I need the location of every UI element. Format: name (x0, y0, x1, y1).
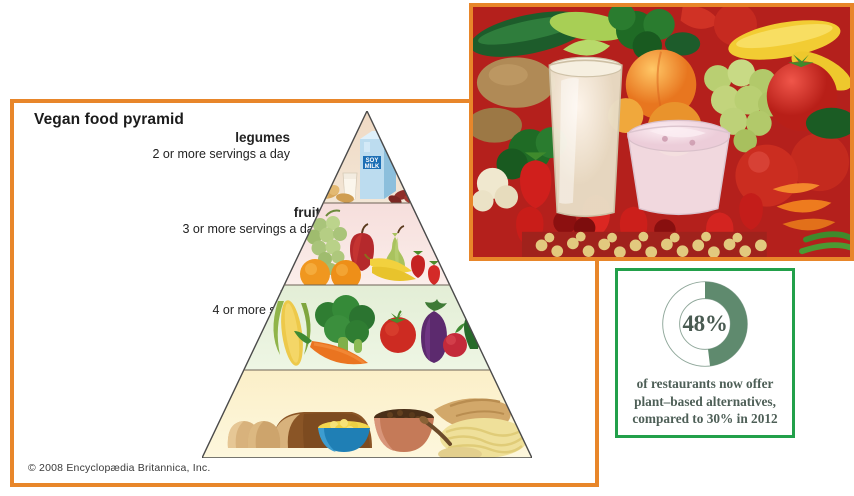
corn-icon (273, 299, 310, 367)
page-title: Vegan food pyramid (34, 111, 184, 129)
produce-photo-illustration (473, 7, 850, 257)
plant-based-stat-panel: 48% of restaurants now offer plant–based… (615, 268, 795, 438)
tomato-icon (380, 311, 416, 353)
stat-caption: of restaurants now offer plant–based alt… (622, 375, 788, 428)
svg-text:MILK: MILK (365, 164, 380, 170)
mushroom-icon (495, 345, 519, 365)
copyright-notice: © 2008 Encyclopædia Britannica, Inc. (28, 462, 210, 474)
leafy-greens-icon (464, 301, 508, 349)
vegetables-tier-art (202, 285, 532, 370)
grain-bowl-icon (374, 409, 434, 452)
whole-grains-tier-art (202, 370, 532, 458)
stat-caption-line-2: plant–based alternatives, (622, 393, 788, 411)
fresh-produce-photo (469, 3, 854, 261)
soybeans-icon (522, 232, 767, 257)
donut-percent-label: 48% (658, 277, 752, 371)
yogurt-bowl-icon (628, 120, 730, 214)
radish-icon (443, 323, 467, 357)
stat-caption-line-1: of restaurants now offer (622, 375, 788, 393)
stat-caption-line-3: compared to 30% in 2012 (622, 410, 788, 428)
eggplant-icon (421, 299, 447, 363)
strawberries-icon (411, 251, 440, 285)
soy-milk-carton-icon: SOY MILK (360, 131, 396, 199)
donut-chart: 48% (658, 277, 752, 371)
soy-milk-glass-icon (549, 57, 621, 216)
beans-pile-icon (414, 188, 446, 203)
bread-slices-icon (228, 421, 280, 448)
